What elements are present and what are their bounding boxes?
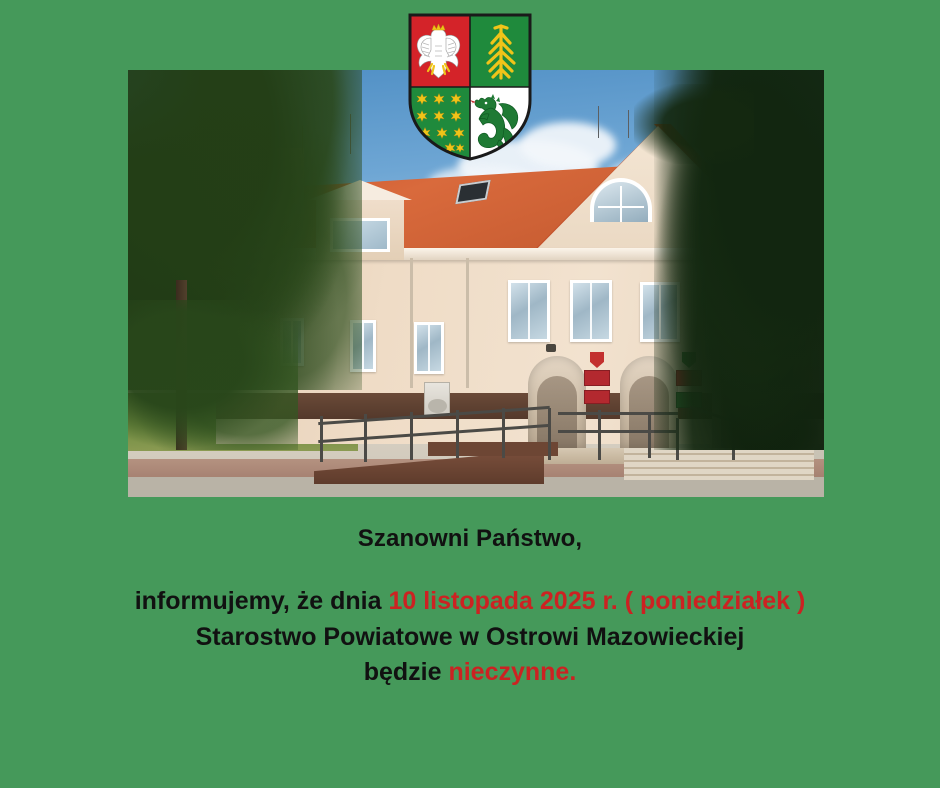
antenna [598, 106, 599, 138]
rail-post [598, 410, 601, 460]
tree-left-lower-foliage [128, 300, 298, 450]
rail-post [320, 416, 323, 462]
closure-date-highlight: 10 listopada 2025 r. ( poniedziałek ) [388, 587, 805, 615]
air-conditioner-unit [424, 382, 450, 416]
rail-post [548, 408, 551, 460]
office-name-line: Starostwo Powiatowe w Ostrowi Mazowiecki… [0, 620, 940, 656]
entrance-steps [624, 448, 814, 480]
rail-post [410, 412, 413, 460]
wall-sign-red [584, 370, 610, 386]
window [570, 280, 612, 342]
window [508, 280, 550, 342]
ramp-deck [428, 442, 558, 456]
downpipe [410, 258, 413, 388]
wall-emblem [590, 352, 604, 368]
downpipe [466, 258, 469, 388]
closed-status-highlight: nieczynne. [448, 658, 576, 686]
cloud [520, 122, 616, 168]
rail-post [648, 412, 651, 458]
closure-date-prefix: informujemy, że dnia [135, 587, 389, 615]
closure-date-line: informujemy, że dnia 10 listopada 2025 r… [0, 584, 940, 620]
salutation: Szanowni Państwo, [0, 524, 940, 554]
tree-right-branch [634, 84, 754, 164]
antenna [628, 110, 629, 138]
entrance-arch [528, 356, 586, 448]
closed-status-line: będzie nieczynne. [0, 655, 940, 691]
window [414, 322, 444, 374]
announcement-poster: Szanowni Państwo, informujemy, że dnia 1… [0, 0, 940, 788]
rail-post [456, 410, 459, 458]
wall-sign-red [584, 390, 610, 404]
rail-post [364, 414, 367, 462]
closed-status-prefix: będzie [364, 658, 449, 686]
wall-lamp [546, 344, 556, 352]
rail-post [502, 408, 505, 458]
powiat-ostrowski-coat-of-arms [407, 12, 533, 162]
announcement-text: Szanowni Państwo, informujemy, że dnia 1… [0, 524, 940, 691]
